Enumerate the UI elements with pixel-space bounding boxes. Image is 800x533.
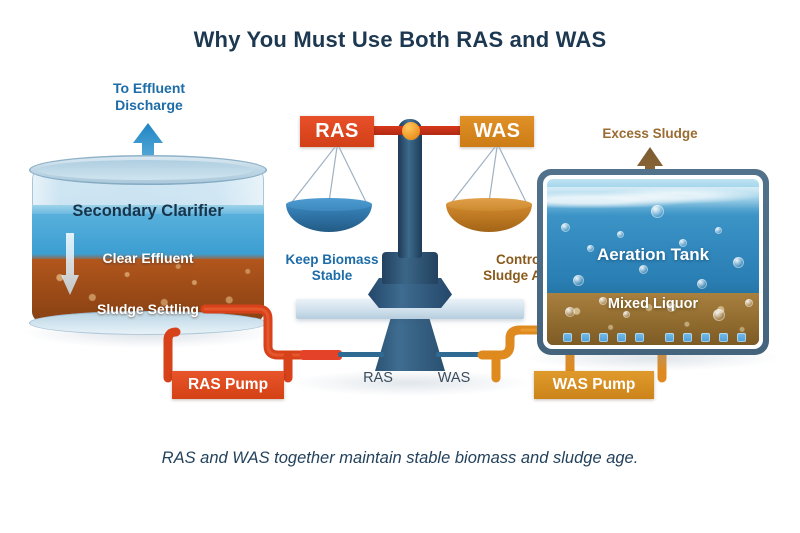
diffuser-icon [617,333,626,342]
clarifier-rim-inner [37,160,253,180]
left-pan-label-line1: Keep Biomass [285,252,378,267]
caption: RAS and WAS together maintain stable bio… [0,449,800,468]
sludge-settling-label: Sludge Settling [32,301,264,318]
diffuser-icon [737,333,746,342]
page-title: Why You Must Use Both RAS and WAS [0,27,800,53]
clarifier-title: Secondary Clarifier [32,201,264,221]
bubble-icon [651,205,664,218]
left-pan-label-line2: Stable [312,268,353,283]
ras-badge[interactable]: RAS [300,116,374,147]
was-pump-button[interactable]: WAS Pump [534,371,654,399]
diffuser-icon [635,333,644,342]
pan-left-rim [286,198,372,211]
base-tag-was: WAS [424,370,484,386]
scale-pan-left[interactable] [286,198,372,232]
was-badge[interactable]: WAS [460,116,534,147]
scale-pan-right[interactable] [446,198,532,232]
to-effluent-discharge-label: To Effluent Discharge [74,80,224,114]
diffuser-icon [563,333,572,342]
scale-pedestal-base [375,319,445,371]
keep-biomass-stable-label: Keep Biomass Stable [272,252,392,285]
scale-column [398,130,422,258]
bubble-icon [573,275,584,286]
clarifier-rim [29,155,267,185]
diffuser-icon [599,333,608,342]
scale-shadow [292,370,528,396]
aeration-tank-title: Aeration Tank [537,245,769,266]
effluent-label-line1: To Effluent [113,80,185,96]
diffuser-icon [665,333,674,342]
ras-pump-button[interactable]: RAS Pump [172,371,284,399]
bubble-icon [561,223,570,232]
diagram-canvas: Why You Must Use Both RAS and WAS To Eff… [0,0,800,533]
diffuser-icon [719,333,728,342]
pan-right-rim [446,198,532,211]
bubble-icon [715,227,722,234]
mixed-liquor-label: Mixed Liquor [537,296,769,314]
chain-left-icon [292,147,366,202]
diffuser-icon [683,333,692,342]
diffuser-icon [581,333,590,342]
bubble-icon [617,231,624,238]
effluent-label-line2: Discharge [115,97,183,113]
excess-sludge-label: Excess Sludge [580,126,720,142]
clear-effluent-label: Clear Effluent [32,250,264,267]
diffuser-icon [701,333,710,342]
scale-pivot-icon [402,122,420,140]
base-tag-ras: RAS [348,370,408,386]
bubble-icon [697,279,707,289]
bubble-icon [639,265,648,274]
chain-right-icon [452,147,526,202]
